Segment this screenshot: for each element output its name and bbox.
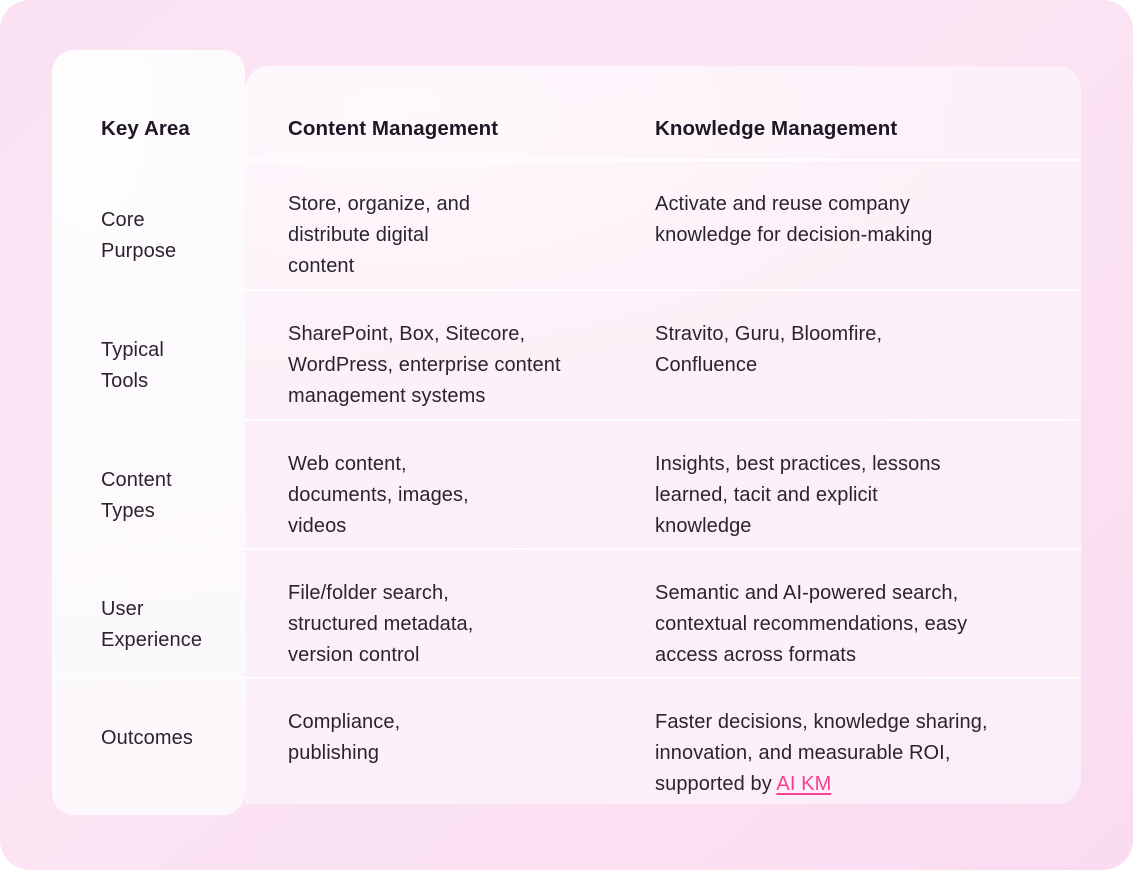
key-area-cell-core-purpose: Core Purpose — [52, 159, 245, 289]
header-cell-knowledge-management: Knowledge Management — [655, 113, 1081, 144]
row-3-text-content-management: Web content, documents, images, videos — [288, 449, 629, 542]
row-1-text-knowledge-management: Activate and reuse company knowledge for… — [655, 189, 1055, 251]
key-area-cell-user-experience: User Experience — [52, 548, 245, 677]
ai-km-link[interactable]: AI KM — [776, 773, 831, 795]
table-row: Compliance, publishing Faster decisions,… — [245, 677, 1081, 804]
row-2-cell-knowledge-management: Stravito, Guru, Bloomfire, Confluence — [655, 319, 1081, 381]
row-3-text-knowledge-management: Insights, best practices, lessons learne… — [655, 449, 1055, 542]
row-5-cell-knowledge-management: Faster decisions, knowledge sharing, inn… — [655, 707, 1081, 800]
row-2-cell-content-management: SharePoint, Box, Sitecore, WordPress, en… — [245, 319, 655, 412]
header-label-knowledge-management: Knowledge Management — [655, 113, 1055, 144]
comparison-table-page: Content Management Knowledge Management … — [0, 0, 1133, 870]
key-row-divider — [52, 419, 245, 420]
key-area-cell-typical-tools: Typical Tools — [52, 289, 245, 419]
row-divider — [245, 677, 1081, 679]
key-area-header-label: Key Area — [101, 113, 190, 144]
row-2-text-content-management: SharePoint, Box, Sitecore, WordPress, en… — [288, 319, 629, 412]
key-area-label-core-purpose: Core Purpose — [101, 205, 176, 267]
header-label-content-management: Content Management — [288, 113, 629, 144]
key-area-label-content-types: Content Types — [101, 465, 172, 527]
table-row: File/folder search, structured metadata,… — [245, 548, 1081, 677]
key-row-divider — [52, 677, 245, 678]
row-4-text-content-management: File/folder search, structured metadata,… — [288, 578, 629, 671]
key-area-label-outcomes: Outcomes — [101, 723, 193, 754]
table-row: Store, organize, and distribute digital … — [245, 159, 1081, 289]
row-4-text-knowledge-management: Semantic and AI-powered search, contextu… — [655, 578, 1055, 671]
row-divider — [245, 289, 1081, 291]
row-divider — [245, 419, 1081, 421]
key-area-cell-content-types: Content Types — [52, 419, 245, 548]
row-1-text-content-management: Store, organize, and distribute digital … — [288, 189, 629, 282]
comparison-table-card: Content Management Knowledge Management … — [245, 66, 1081, 804]
row-1-cell-knowledge-management: Activate and reuse company knowledge for… — [655, 189, 1081, 251]
row-1-cell-content-management: Store, organize, and distribute digital … — [245, 189, 655, 282]
row-5-cell-content-management: Compliance, publishing — [245, 707, 655, 769]
row-3-cell-knowledge-management: Insights, best practices, lessons learne… — [655, 449, 1081, 542]
key-row-divider — [52, 159, 245, 160]
row-4-cell-knowledge-management: Semantic and AI-powered search, contextu… — [655, 578, 1081, 671]
row-5-text-knowledge-management: Faster decisions, knowledge sharing, inn… — [655, 707, 1055, 800]
row-2-text-knowledge-management: Stravito, Guru, Bloomfire, Confluence — [655, 319, 1055, 381]
row-divider — [245, 159, 1081, 161]
key-row-divider — [52, 289, 245, 290]
key-area-header-cell: Key Area — [52, 50, 245, 159]
key-area-cell-outcomes: Outcomes — [52, 677, 245, 815]
row-divider — [245, 548, 1081, 550]
key-area-label-user-experience: User Experience — [101, 594, 202, 656]
key-row-divider — [52, 548, 245, 549]
table-row: SharePoint, Box, Sitecore, WordPress, en… — [245, 289, 1081, 419]
row-5-text-content-management: Compliance, publishing — [288, 707, 629, 769]
table-header-row: Content Management Knowledge Management — [245, 66, 1081, 159]
row-4-cell-content-management: File/folder search, structured metadata,… — [245, 578, 655, 671]
table-row: Web content, documents, images, videos I… — [245, 419, 1081, 548]
row-3-cell-content-management: Web content, documents, images, videos — [245, 449, 655, 542]
key-area-label-typical-tools: Typical Tools — [101, 335, 164, 397]
header-cell-content-management: Content Management — [245, 113, 655, 144]
key-area-column-card: Key Area Core Purpose Typical Tools Cont… — [52, 50, 245, 815]
